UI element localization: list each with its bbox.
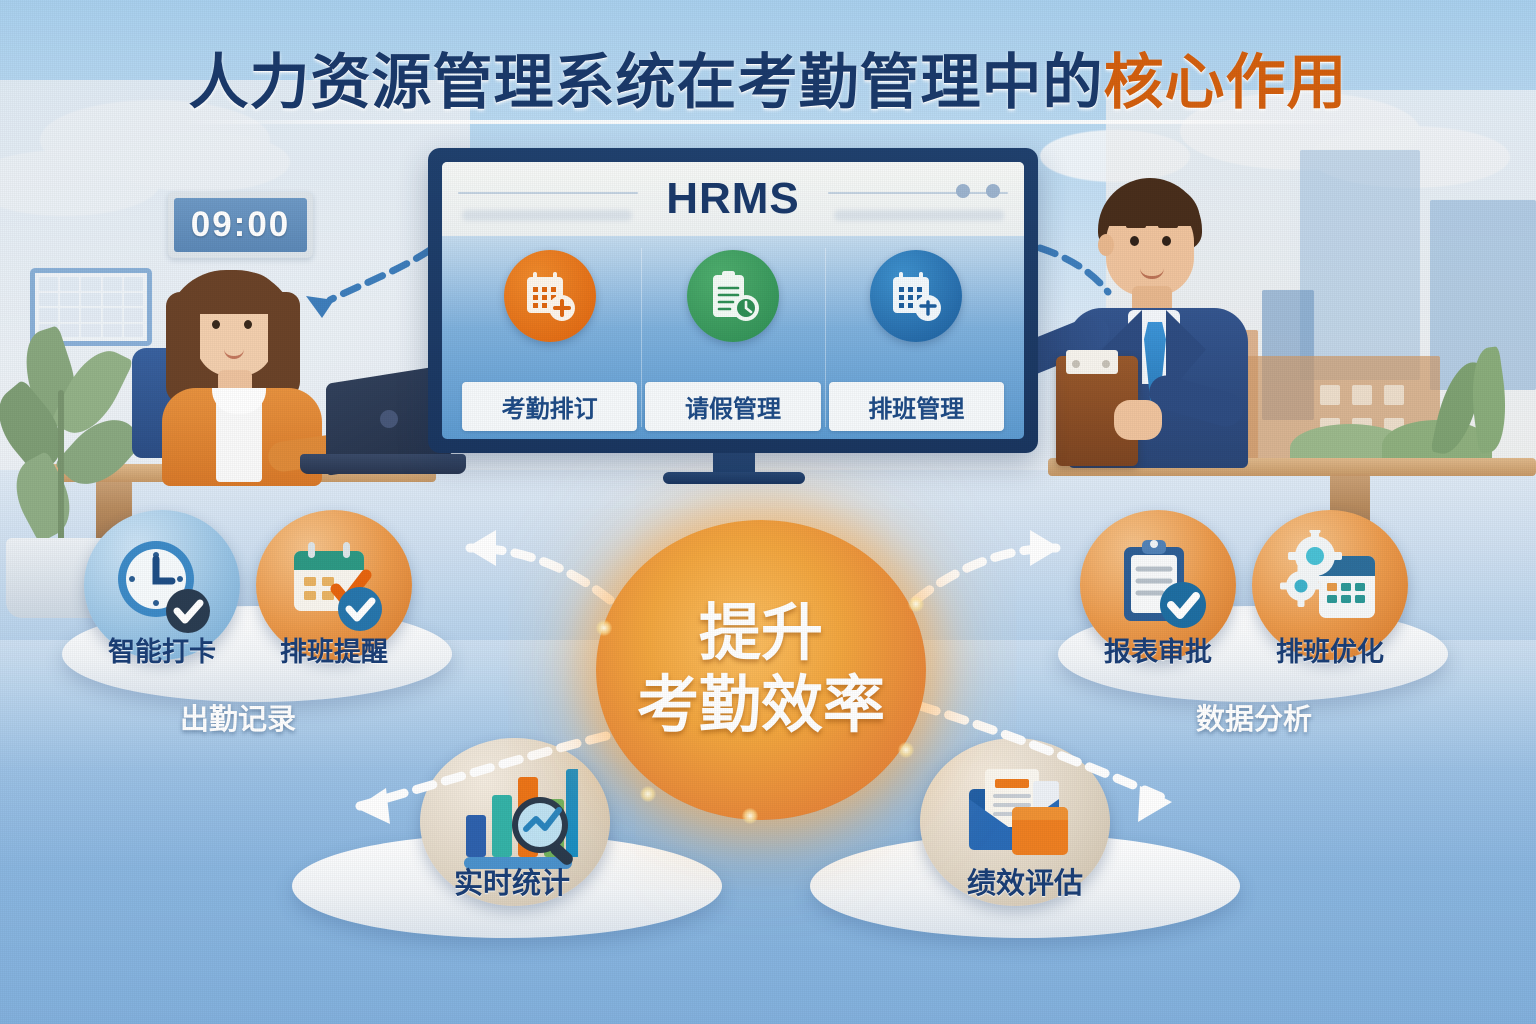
clipboard-clip [1102, 360, 1110, 368]
sparkle-icon [742, 808, 758, 824]
hrms-card-label: 排班管理 [829, 382, 1004, 431]
center-hub: 提升 考勤效率 [596, 520, 926, 820]
window-dot-icon[interactable] [956, 184, 970, 198]
person-hair-front [1102, 186, 1200, 226]
monitor-base [663, 472, 805, 484]
person-eyebrow [1126, 224, 1146, 228]
laptop-base [300, 454, 466, 474]
pod-item-label: 报表审批 [1072, 630, 1244, 669]
person-hair-side [268, 292, 300, 398]
pod-caption: 数据分析 [1154, 696, 1354, 738]
hrms-screen: HRMS [442, 162, 1024, 439]
laptop-logo [380, 410, 398, 428]
person-eye [244, 320, 252, 329]
building-window [1384, 385, 1404, 405]
calendar-check-icon [870, 250, 962, 342]
building-window [1352, 385, 1372, 405]
hrms-titlebar: HRMS [442, 162, 1024, 236]
person-eyebrow [1158, 224, 1178, 228]
person-employee-at-laptop [140, 262, 460, 472]
pod-item-label: 智能打卡 [76, 630, 248, 669]
hrms-card-row: 考勤排订 [442, 236, 1024, 439]
hrms-card-shift-management[interactable]: 排班管理 [825, 244, 1008, 439]
hrms-card-leave-management[interactable]: 请假管理 [641, 244, 824, 439]
gears-calendar-icon [1275, 530, 1385, 640]
clipboard-clock-icon [687, 250, 779, 342]
person-eye [1130, 236, 1139, 246]
window-dot-icon[interactable] [986, 184, 1000, 198]
title-block: 人力资源管理系统在考勤管理中的核心作用 [0, 34, 1536, 121]
hrms-card-attendance-schedule[interactable]: 考勤排订 [458, 244, 641, 439]
hrms-brand: HRMS [666, 174, 800, 224]
hrms-card-label: 请假管理 [645, 382, 820, 431]
clipboard-check-icon [1104, 531, 1212, 639]
pod-item-label: 排班提醒 [248, 630, 420, 669]
pod-caption: 出勤记录 [138, 696, 338, 738]
pod-left: 智能打卡 排班提醒 出勤记录 [62, 500, 462, 740]
infographic-canvas: 09:00 [0, 0, 1536, 1024]
hub-line-2: 考勤效率 [637, 673, 885, 739]
sparkle-icon [596, 620, 612, 636]
person-eye [1162, 236, 1171, 246]
clipboard-clip [1072, 360, 1080, 368]
calendar-check-icon [280, 531, 388, 639]
digital-clock: 09:00 [168, 192, 313, 258]
title-accent: 核心作用 [1104, 49, 1348, 116]
calendar-plus-icon [504, 250, 596, 342]
pod-right: 报表审批 排班优化 数据分析 [1058, 500, 1458, 740]
hrms-monitor: HRMS [428, 148, 1038, 453]
sparkle-icon [898, 742, 914, 758]
hub-line-1: 提升 [699, 601, 823, 667]
person-hand-holding [1114, 400, 1162, 440]
clock-check-icon [108, 531, 216, 639]
person-ear [1098, 234, 1114, 256]
pod-item-label: 绩效评估 [900, 860, 1150, 902]
person-eye [212, 320, 220, 329]
hrms-card-label: 考勤排订 [462, 382, 637, 431]
sparkle-icon [640, 786, 656, 802]
clock-time: 09:00 [174, 198, 307, 252]
person-manager-pointing [1010, 168, 1340, 468]
title-main: 人力资源管理系统在考勤管理中的 [189, 49, 1104, 116]
pod-item-label: 实时统计 [387, 860, 637, 902]
pod-item-label: 排班优化 [1244, 630, 1416, 669]
page-title: 人力资源管理系统在考勤管理中的核心作用 [189, 34, 1348, 121]
sparkle-icon [908, 596, 924, 612]
